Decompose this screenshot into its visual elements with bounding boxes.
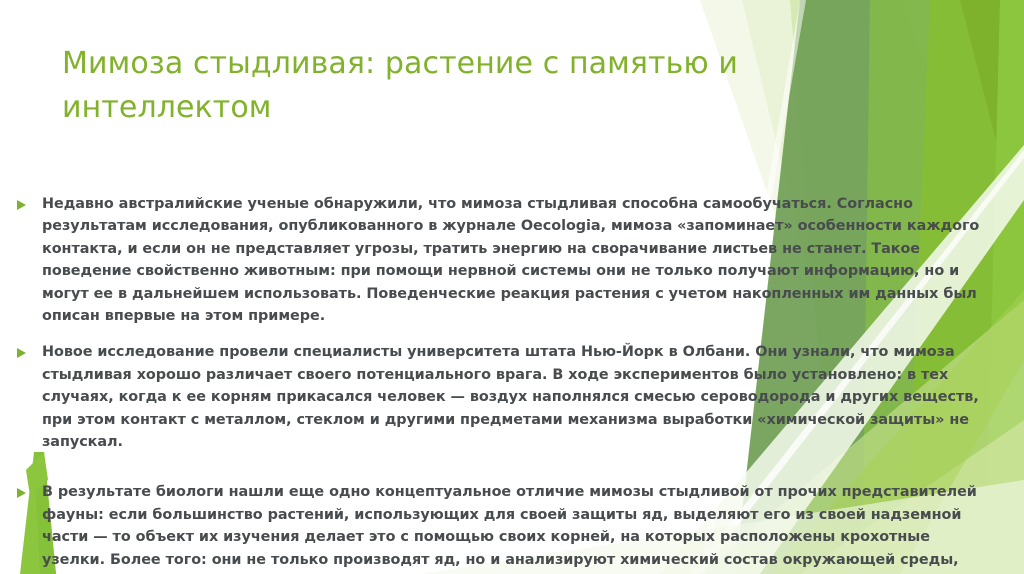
bullet-item-3: В результате биологи нашли еще одно конц… xyxy=(14,481,994,574)
triangle-bullet-icon xyxy=(17,200,26,210)
bullet-item-2: Новое исследование провели специалисты у… xyxy=(14,341,994,453)
bullet-text-1: Недавно австралийские ученые обнаружили,… xyxy=(42,193,994,327)
slide-body: Недавно австралийские ученые обнаружили,… xyxy=(14,193,994,574)
triangle-bullet-icon xyxy=(17,488,26,498)
bullet-item-1: Недавно австралийские ученые обнаружили,… xyxy=(14,193,994,327)
slide-title-text: Мимоза стыдливая: растение с памятью и и… xyxy=(62,42,762,130)
bullet-text-3: В результате биологи нашли еще одно конц… xyxy=(42,481,994,574)
triangle-bullet-icon-3 xyxy=(14,481,42,498)
triangle-bullet-icon-2 xyxy=(14,341,42,358)
bullet-text-2: Новое исследование провели специалисты у… xyxy=(42,341,994,453)
slide-title: Мимоза стыдливая: растение с памятью и и… xyxy=(62,42,762,130)
triangle-bullet-icon xyxy=(17,348,26,358)
triangle-bullet-icon-1 xyxy=(14,193,42,210)
slide: Мимоза стыдливая: растение с памятью и и… xyxy=(0,0,1024,574)
